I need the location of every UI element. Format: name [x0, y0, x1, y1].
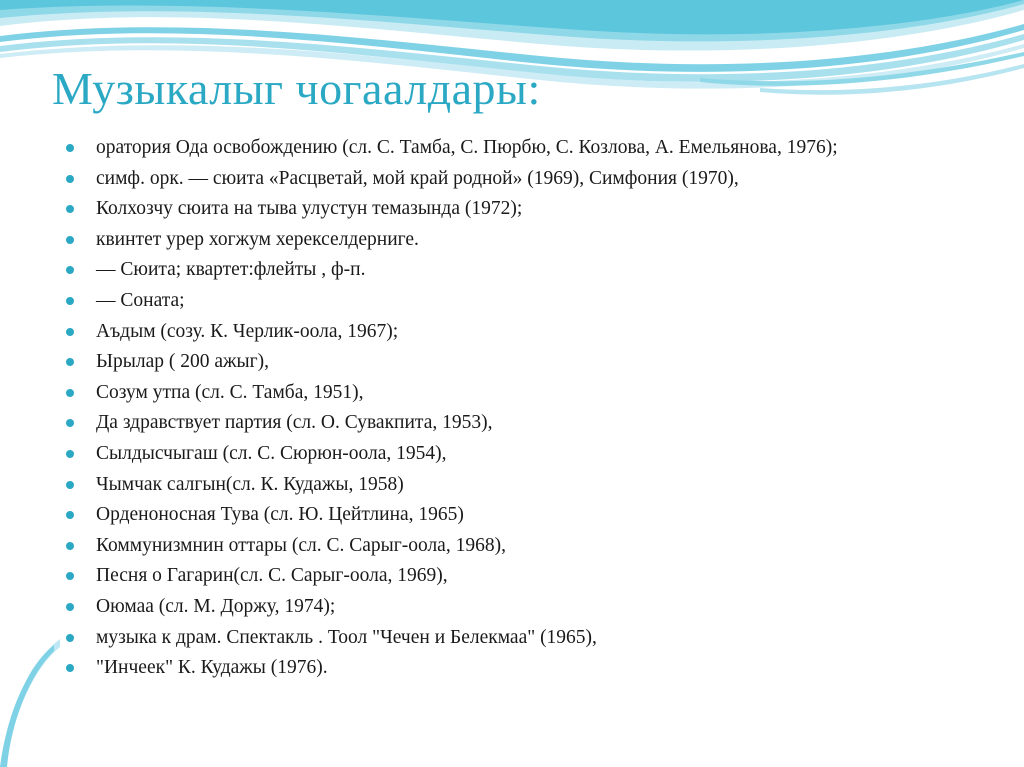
- content-area: оратория Ода освобождению (сл. С. Тамба,…: [52, 133, 982, 684]
- list-item-text: Чымчак салгын(сл. К. Кудажы, 1958): [96, 470, 982, 501]
- list-item: Песня о Гагарин(сл. С. Сарыг-оола, 1969)…: [52, 561, 982, 592]
- bullet-list: оратория Ода освобождению (сл. С. Тамба,…: [52, 133, 982, 684]
- bullet-dot-icon: [66, 175, 74, 183]
- bullet-dot-icon: [66, 297, 74, 305]
- list-item-text: квинтет урер хогжум херекселдерниге.: [96, 225, 982, 256]
- bullet-dot-icon: [66, 603, 74, 611]
- list-item: Оюмаа (сл. М. Доржу, 1974);: [52, 592, 982, 623]
- list-item: Аъдым (созу. К. Черлик-оола, 1967);: [52, 317, 982, 348]
- bullet-dot-icon: [66, 634, 74, 642]
- list-item-text: Сылдысчыгаш (сл. С. Сюрюн-оола, 1954),: [96, 439, 982, 470]
- list-item-text: Ырылар ( 200 ажыг),: [96, 347, 982, 378]
- slide: Музыкалыг чогаалдары: оратория Ода освоб…: [0, 0, 1024, 767]
- bullet-dot-icon: [66, 266, 74, 274]
- bullet-dot-icon: [66, 144, 74, 152]
- list-item-text: Коммунизмнин оттары (сл. С. Сарыг-оола, …: [96, 531, 982, 562]
- list-item: Сылдысчыгаш (сл. С. Сюрюн-оола, 1954),: [52, 439, 982, 470]
- list-item: Да здравствует партия (сл. О. Сувакпита,…: [52, 408, 982, 439]
- list-item-text: — Сюита; квартет:флейты , ф-п.: [96, 255, 982, 286]
- list-item-text: музыка к драм. Спектакль . Тоол "Чечен и…: [96, 623, 982, 654]
- list-item: Коммунизмнин оттары (сл. С. Сарыг-оола, …: [52, 531, 982, 562]
- list-item: квинтет урер хогжум херекселдерниге.: [52, 225, 982, 256]
- list-item: Колхозчу сюита на тыва улустун темазында…: [52, 194, 982, 225]
- list-item: Созум утпа (сл. С. Тамба, 1951),: [52, 378, 982, 409]
- list-item: Ырылар ( 200 ажыг),: [52, 347, 982, 378]
- list-item: "Инчеек" К. Кудажы (1976).: [52, 653, 982, 684]
- bullet-dot-icon: [66, 328, 74, 336]
- bullet-dot-icon: [66, 419, 74, 427]
- bullet-dot-icon: [66, 236, 74, 244]
- list-item: оратория Ода освобождению (сл. С. Тамба,…: [52, 133, 982, 164]
- list-item: Чымчак салгын(сл. К. Кудажы, 1958): [52, 470, 982, 501]
- list-item-text: — Соната;: [96, 286, 982, 317]
- list-item-text: Созум утпа (сл. С. Тамба, 1951),: [96, 378, 982, 409]
- list-item-text: Да здравствует партия (сл. О. Сувакпита,…: [96, 408, 982, 439]
- list-item-text: Орденоносная Тува (сл. Ю. Цейтлина, 1965…: [96, 500, 982, 531]
- bullet-dot-icon: [66, 205, 74, 213]
- bullet-dot-icon: [66, 389, 74, 397]
- bullet-dot-icon: [66, 664, 74, 672]
- bullet-dot-icon: [66, 481, 74, 489]
- list-item-text: оратория Ода освобождению (сл. С. Тамба,…: [96, 133, 982, 164]
- list-item-text: Песня о Гагарин(сл. С. Сарыг-оола, 1969)…: [96, 561, 982, 592]
- bullet-dot-icon: [66, 572, 74, 580]
- list-item: — Соната;: [52, 286, 982, 317]
- bullet-dot-icon: [66, 358, 74, 366]
- page-title: Музыкалыг чогаалдары:: [52, 62, 541, 115]
- list-item-text: Колхозчу сюита на тыва улустун темазында…: [96, 194, 982, 225]
- bullet-dot-icon: [66, 542, 74, 550]
- list-item: Орденоносная Тува (сл. Ю. Цейтлина, 1965…: [52, 500, 982, 531]
- list-item: — Сюита; квартет:флейты , ф-п.: [52, 255, 982, 286]
- bullet-dot-icon: [66, 511, 74, 519]
- list-item-text: Оюмаа (сл. М. Доржу, 1974);: [96, 592, 982, 623]
- bullet-dot-icon: [66, 450, 74, 458]
- list-item: музыка к драм. Спектакль . Тоол "Чечен и…: [52, 623, 982, 654]
- list-item: симф. орк. — сюита «Расцветай, мой край …: [52, 164, 982, 195]
- bottom-left-wave-decoration: [0, 637, 60, 767]
- list-item-text: симф. орк. — сюита «Расцветай, мой край …: [96, 164, 982, 195]
- list-item-text: Аъдым (созу. К. Черлик-оола, 1967);: [96, 317, 982, 348]
- list-item-text: "Инчеек" К. Кудажы (1976).: [96, 653, 982, 684]
